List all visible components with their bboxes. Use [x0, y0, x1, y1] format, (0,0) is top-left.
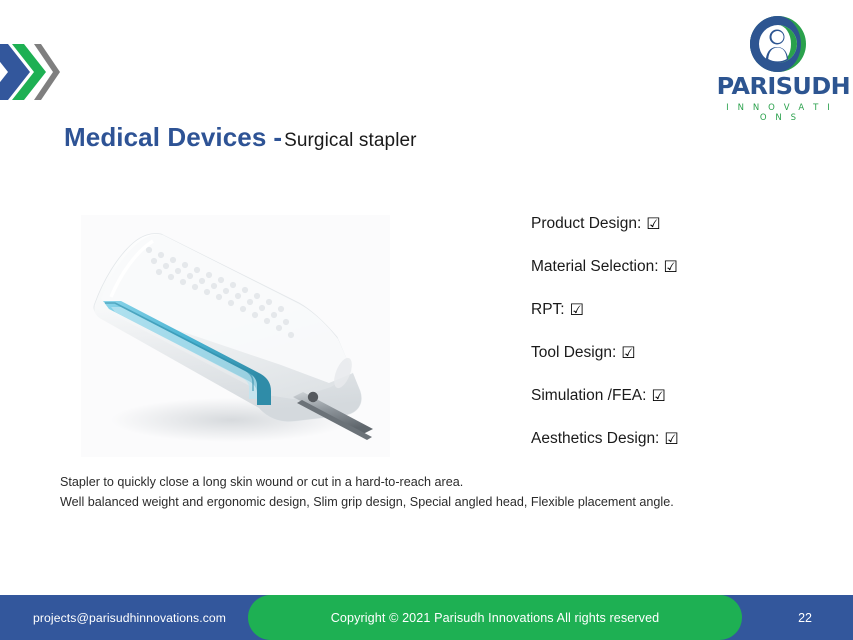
- footer-copyright-text: Copyright © 2021 Parisudh Innovations Al…: [331, 611, 660, 625]
- checklist-label: Tool Design:: [531, 345, 616, 361]
- footer-copyright-pill: Copyright © 2021 Parisudh Innovations Al…: [248, 595, 742, 640]
- caption-line-2: Well balanced weight and ergonomic desig…: [60, 493, 760, 513]
- page-title-subtitle: Surgical stapler: [284, 130, 417, 152]
- footer-page-number: 22: [798, 595, 812, 640]
- checklist-item-product-design[interactable]: Product Design: ☑: [531, 216, 831, 232]
- logo-tagline: I N N O V A T I O N S: [719, 103, 837, 123]
- checkbox-checked-icon[interactable]: ☑: [651, 388, 665, 404]
- slide-footer: projects@parisudhinnovations.com Copyrig…: [0, 595, 853, 640]
- checkbox-checked-icon[interactable]: ☑: [621, 345, 635, 361]
- triple-chevron-decoration: [0, 44, 60, 100]
- deliverables-checklist: Product Design: ☑ Material Selection: ☑ …: [531, 216, 831, 474]
- checklist-item-aesthetics-design[interactable]: Aesthetics Design: ☑: [531, 431, 831, 447]
- checklist-item-tool-design[interactable]: Tool Design: ☑: [531, 345, 831, 361]
- checkbox-checked-icon[interactable]: ☑: [570, 302, 584, 318]
- checklist-item-rpt[interactable]: RPT: ☑: [531, 302, 831, 318]
- product-image: [81, 215, 390, 457]
- checklist-label: RPT:: [531, 302, 565, 318]
- parisudh-circle-person-logo-icon: [748, 14, 808, 74]
- checkbox-checked-icon[interactable]: ☑: [646, 216, 660, 232]
- logo-wordmark: PARISUDH: [717, 76, 840, 99]
- checklist-item-material-selection[interactable]: Material Selection: ☑: [531, 259, 831, 275]
- slide-canvas: PARISUDH I N N O V A T I O N S Medical D…: [0, 0, 853, 640]
- checkbox-checked-icon[interactable]: ☑: [664, 259, 678, 275]
- page-title-dash: -: [266, 122, 284, 153]
- checklist-label: Product Design:: [531, 216, 641, 232]
- checkbox-checked-icon[interactable]: ☑: [664, 431, 678, 447]
- checklist-item-simulation-fea[interactable]: Simulation /FEA: ☑: [531, 388, 831, 404]
- page-title-main: Medical Devices: [64, 122, 266, 153]
- surgical-stapler-render-icon: [81, 215, 390, 457]
- footer-email[interactable]: projects@parisudhinnovations.com: [33, 595, 226, 640]
- checklist-label: Material Selection:: [531, 259, 659, 275]
- product-caption: Stapler to quickly close a long skin wou…: [60, 473, 760, 512]
- page-title: Medical Devices - Surgical stapler: [64, 122, 417, 153]
- brand-logo: PARISUDH I N N O V A T I O N S: [719, 14, 837, 118]
- checklist-label: Aesthetics Design:: [531, 431, 659, 447]
- checklist-label: Simulation /FEA:: [531, 388, 646, 404]
- caption-line-1: Stapler to quickly close a long skin wou…: [60, 473, 760, 493]
